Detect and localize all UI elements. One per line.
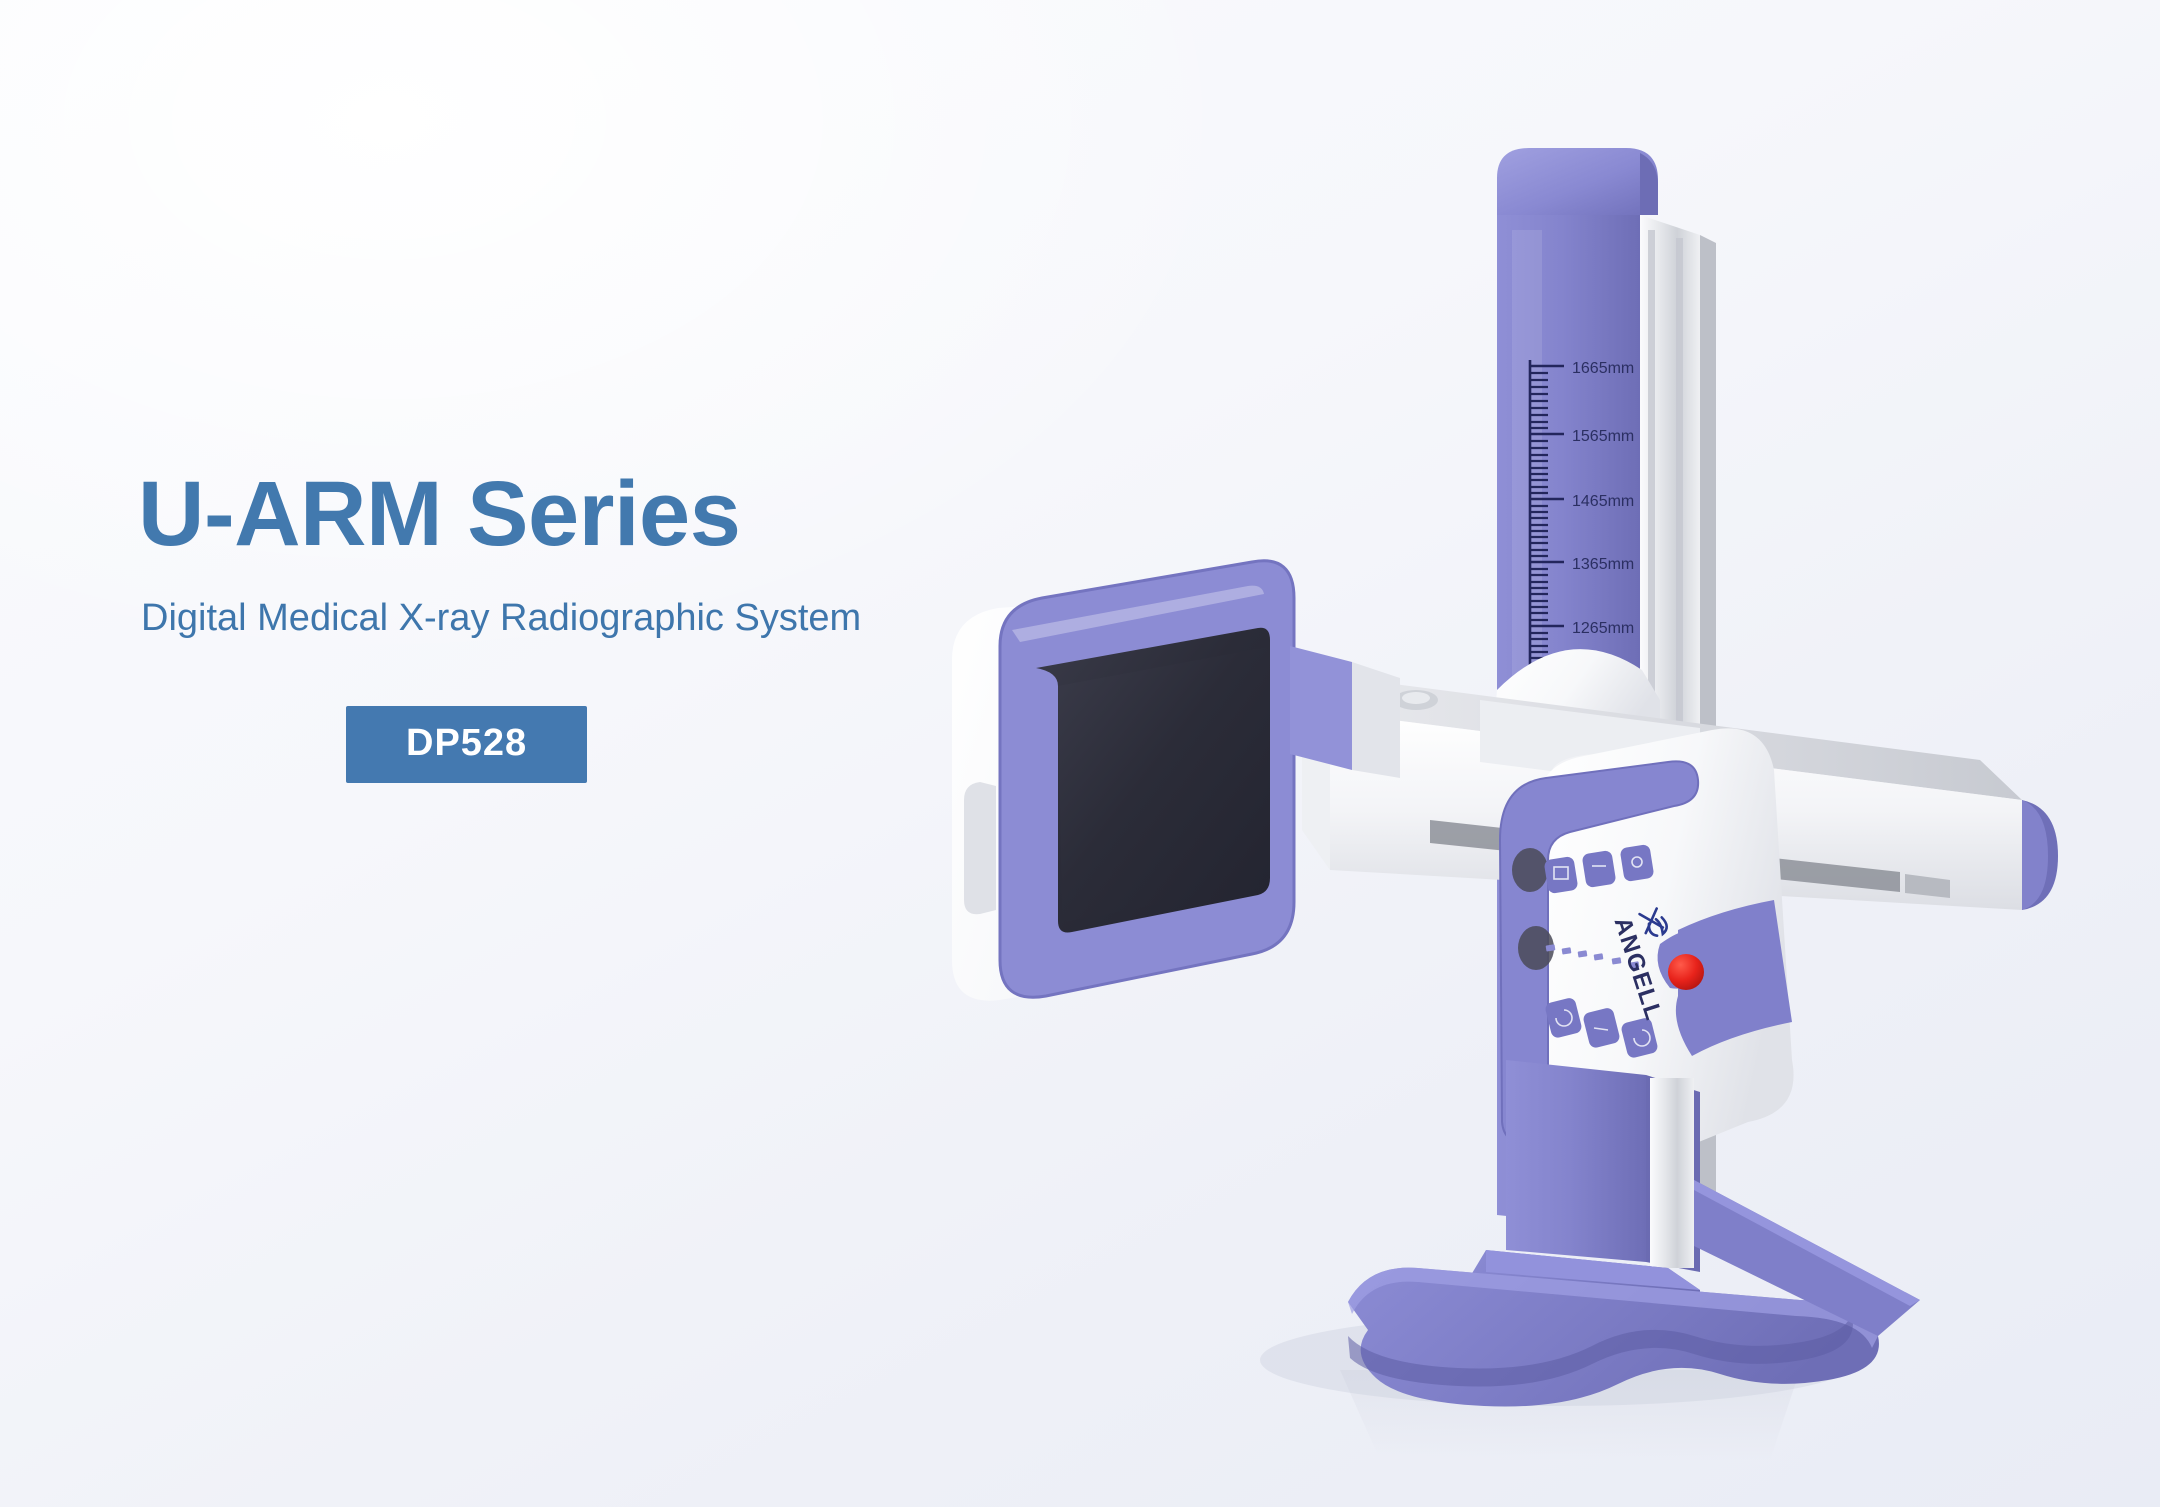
emergency-stop-button[interactable]: [1668, 954, 1704, 990]
page-title: U-ARM Series: [138, 468, 1038, 560]
model-badge[interactable]: DP528: [346, 706, 587, 783]
pivot-knob-upper: [1512, 848, 1548, 892]
page-subtitle: Digital Medical X-ray Radiographic Syste…: [141, 596, 1038, 642]
column-top-cap: [1497, 148, 1658, 215]
hero-text-block: U-ARM Series Digital Medical X-ray Radio…: [138, 468, 1038, 783]
scale-label-4: 1265mm: [1572, 620, 1634, 637]
button-collimator-field[interactable]: [1544, 856, 1579, 894]
scale-label-3: 1365mm: [1572, 556, 1634, 573]
hero-banner: 1665mm 1565mm 1465mm 1365mm 1265mm: [0, 0, 2160, 1507]
scale-label-2: 1465mm: [1572, 493, 1634, 510]
button-beam-limit[interactable]: [1582, 850, 1617, 888]
scale-label-0: 1665mm: [1572, 360, 1634, 377]
scale-label-1: 1565mm: [1572, 428, 1634, 445]
detector-handle: [964, 782, 996, 914]
button-lamp-timer[interactable]: [1620, 844, 1655, 882]
